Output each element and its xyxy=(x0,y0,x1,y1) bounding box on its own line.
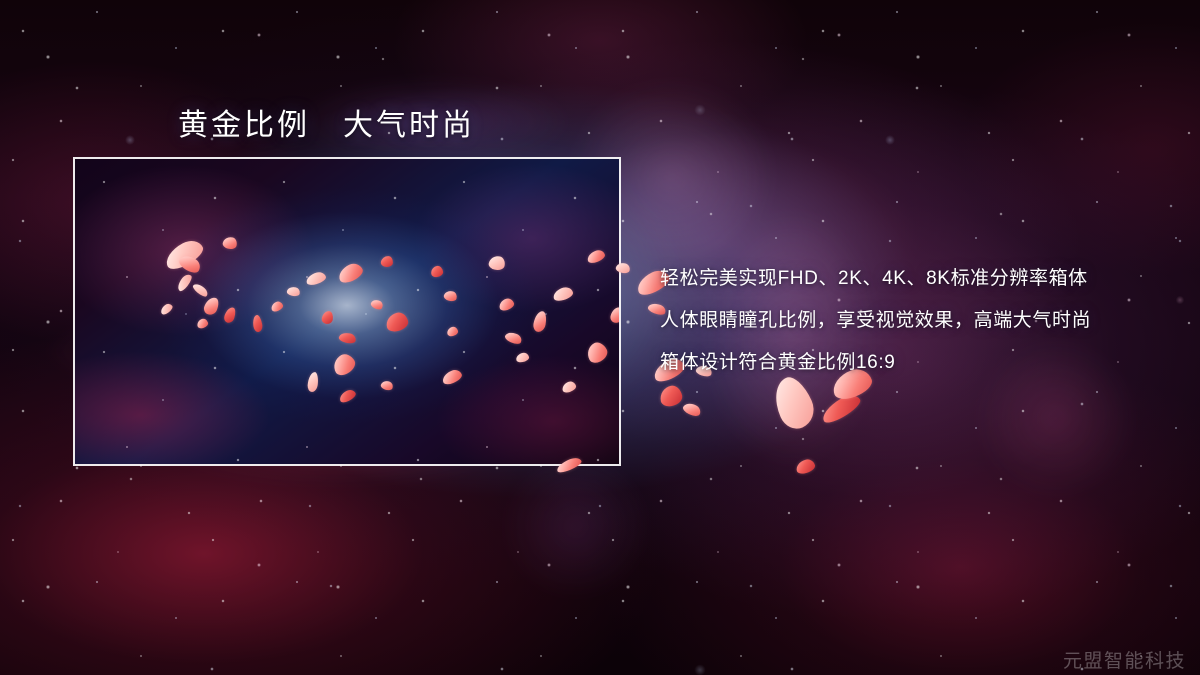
petal xyxy=(658,384,684,408)
watermark: 元盟智能科技 xyxy=(1063,646,1186,673)
petal xyxy=(681,401,702,419)
petal xyxy=(615,261,631,274)
body-line-1: 轻松完美实现FHD、2K、4K、8K标准分辨率箱体 xyxy=(660,258,1160,300)
petal xyxy=(795,458,817,476)
body-line-2: 人体眼睛瞳孔比例，享受视觉效果，高端大气时尚 xyxy=(660,300,1160,342)
body-copy: 轻松完美实现FHD、2K、4K、8K标准分辨率箱体人体眼睛瞳孔比例，享受视觉效果… xyxy=(660,258,1160,384)
body-line-3: 箱体设计符合黄金比例16:9 xyxy=(660,342,1160,384)
slide-canvas: 黄金比例 大气时尚 轻松完美实现FHD、2K、4K、8K标准分辨率箱体人体眼睛瞳… xyxy=(0,0,1200,675)
petal xyxy=(555,455,583,474)
petal xyxy=(819,391,864,427)
